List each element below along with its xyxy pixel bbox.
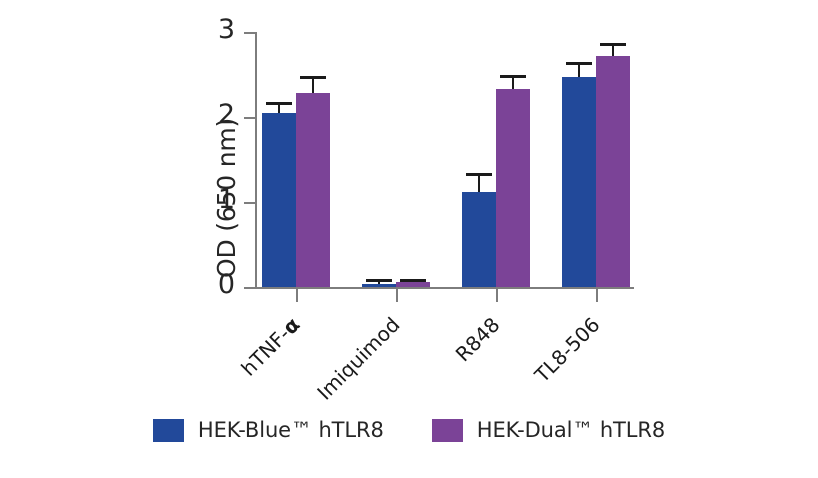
error-bar-cap	[266, 102, 292, 105]
y-axis-tick-label: 3	[195, 16, 235, 43]
y-axis-line	[255, 32, 257, 287]
legend-item-label: HEK-Blue™ hTLR8	[198, 418, 384, 442]
bar	[296, 93, 330, 287]
y-axis-tick-label: 0	[195, 271, 235, 298]
y-axis-tick-label: 2	[195, 101, 235, 128]
error-bar-cap	[400, 279, 426, 282]
legend-swatch-icon	[153, 419, 184, 442]
legend-swatch-icon	[432, 419, 463, 442]
bar-chart-figure: OD (650 nm) 0123hTNF-αImiquimodR848TL8-5…	[0, 0, 818, 476]
y-axis-tick	[244, 287, 255, 289]
y-axis-tick	[244, 32, 255, 34]
x-axis-tick	[496, 289, 498, 302]
legend-item-label: HEK-Dual™ hTLR8	[477, 418, 665, 442]
x-axis-tick	[296, 289, 298, 302]
chart-legend: HEK-Blue™ hTLR8HEK-Dual™ hTLR8	[0, 418, 818, 442]
error-bar-cap	[466, 173, 492, 176]
bar	[562, 77, 596, 287]
x-axis-tick	[396, 289, 398, 302]
error-bar-cap	[600, 43, 626, 46]
bar	[496, 89, 530, 287]
legend-item[interactable]: HEK-Dual™ hTLR8	[432, 418, 665, 442]
x-axis-tick	[596, 289, 598, 302]
legend-item[interactable]: HEK-Blue™ hTLR8	[153, 418, 384, 442]
bar	[462, 192, 496, 287]
bar	[596, 56, 630, 287]
error-bar-cap	[300, 76, 326, 79]
x-axis-line	[255, 287, 634, 289]
error-bar-cap	[500, 75, 526, 78]
y-axis-tick	[244, 117, 255, 119]
error-bar-cap	[366, 279, 392, 282]
bar	[362, 284, 396, 287]
y-axis-tick-label: 1	[195, 186, 235, 213]
y-axis-tick	[244, 202, 255, 204]
bar	[262, 113, 296, 287]
bar	[396, 282, 430, 287]
error-bar-cap	[566, 62, 592, 65]
